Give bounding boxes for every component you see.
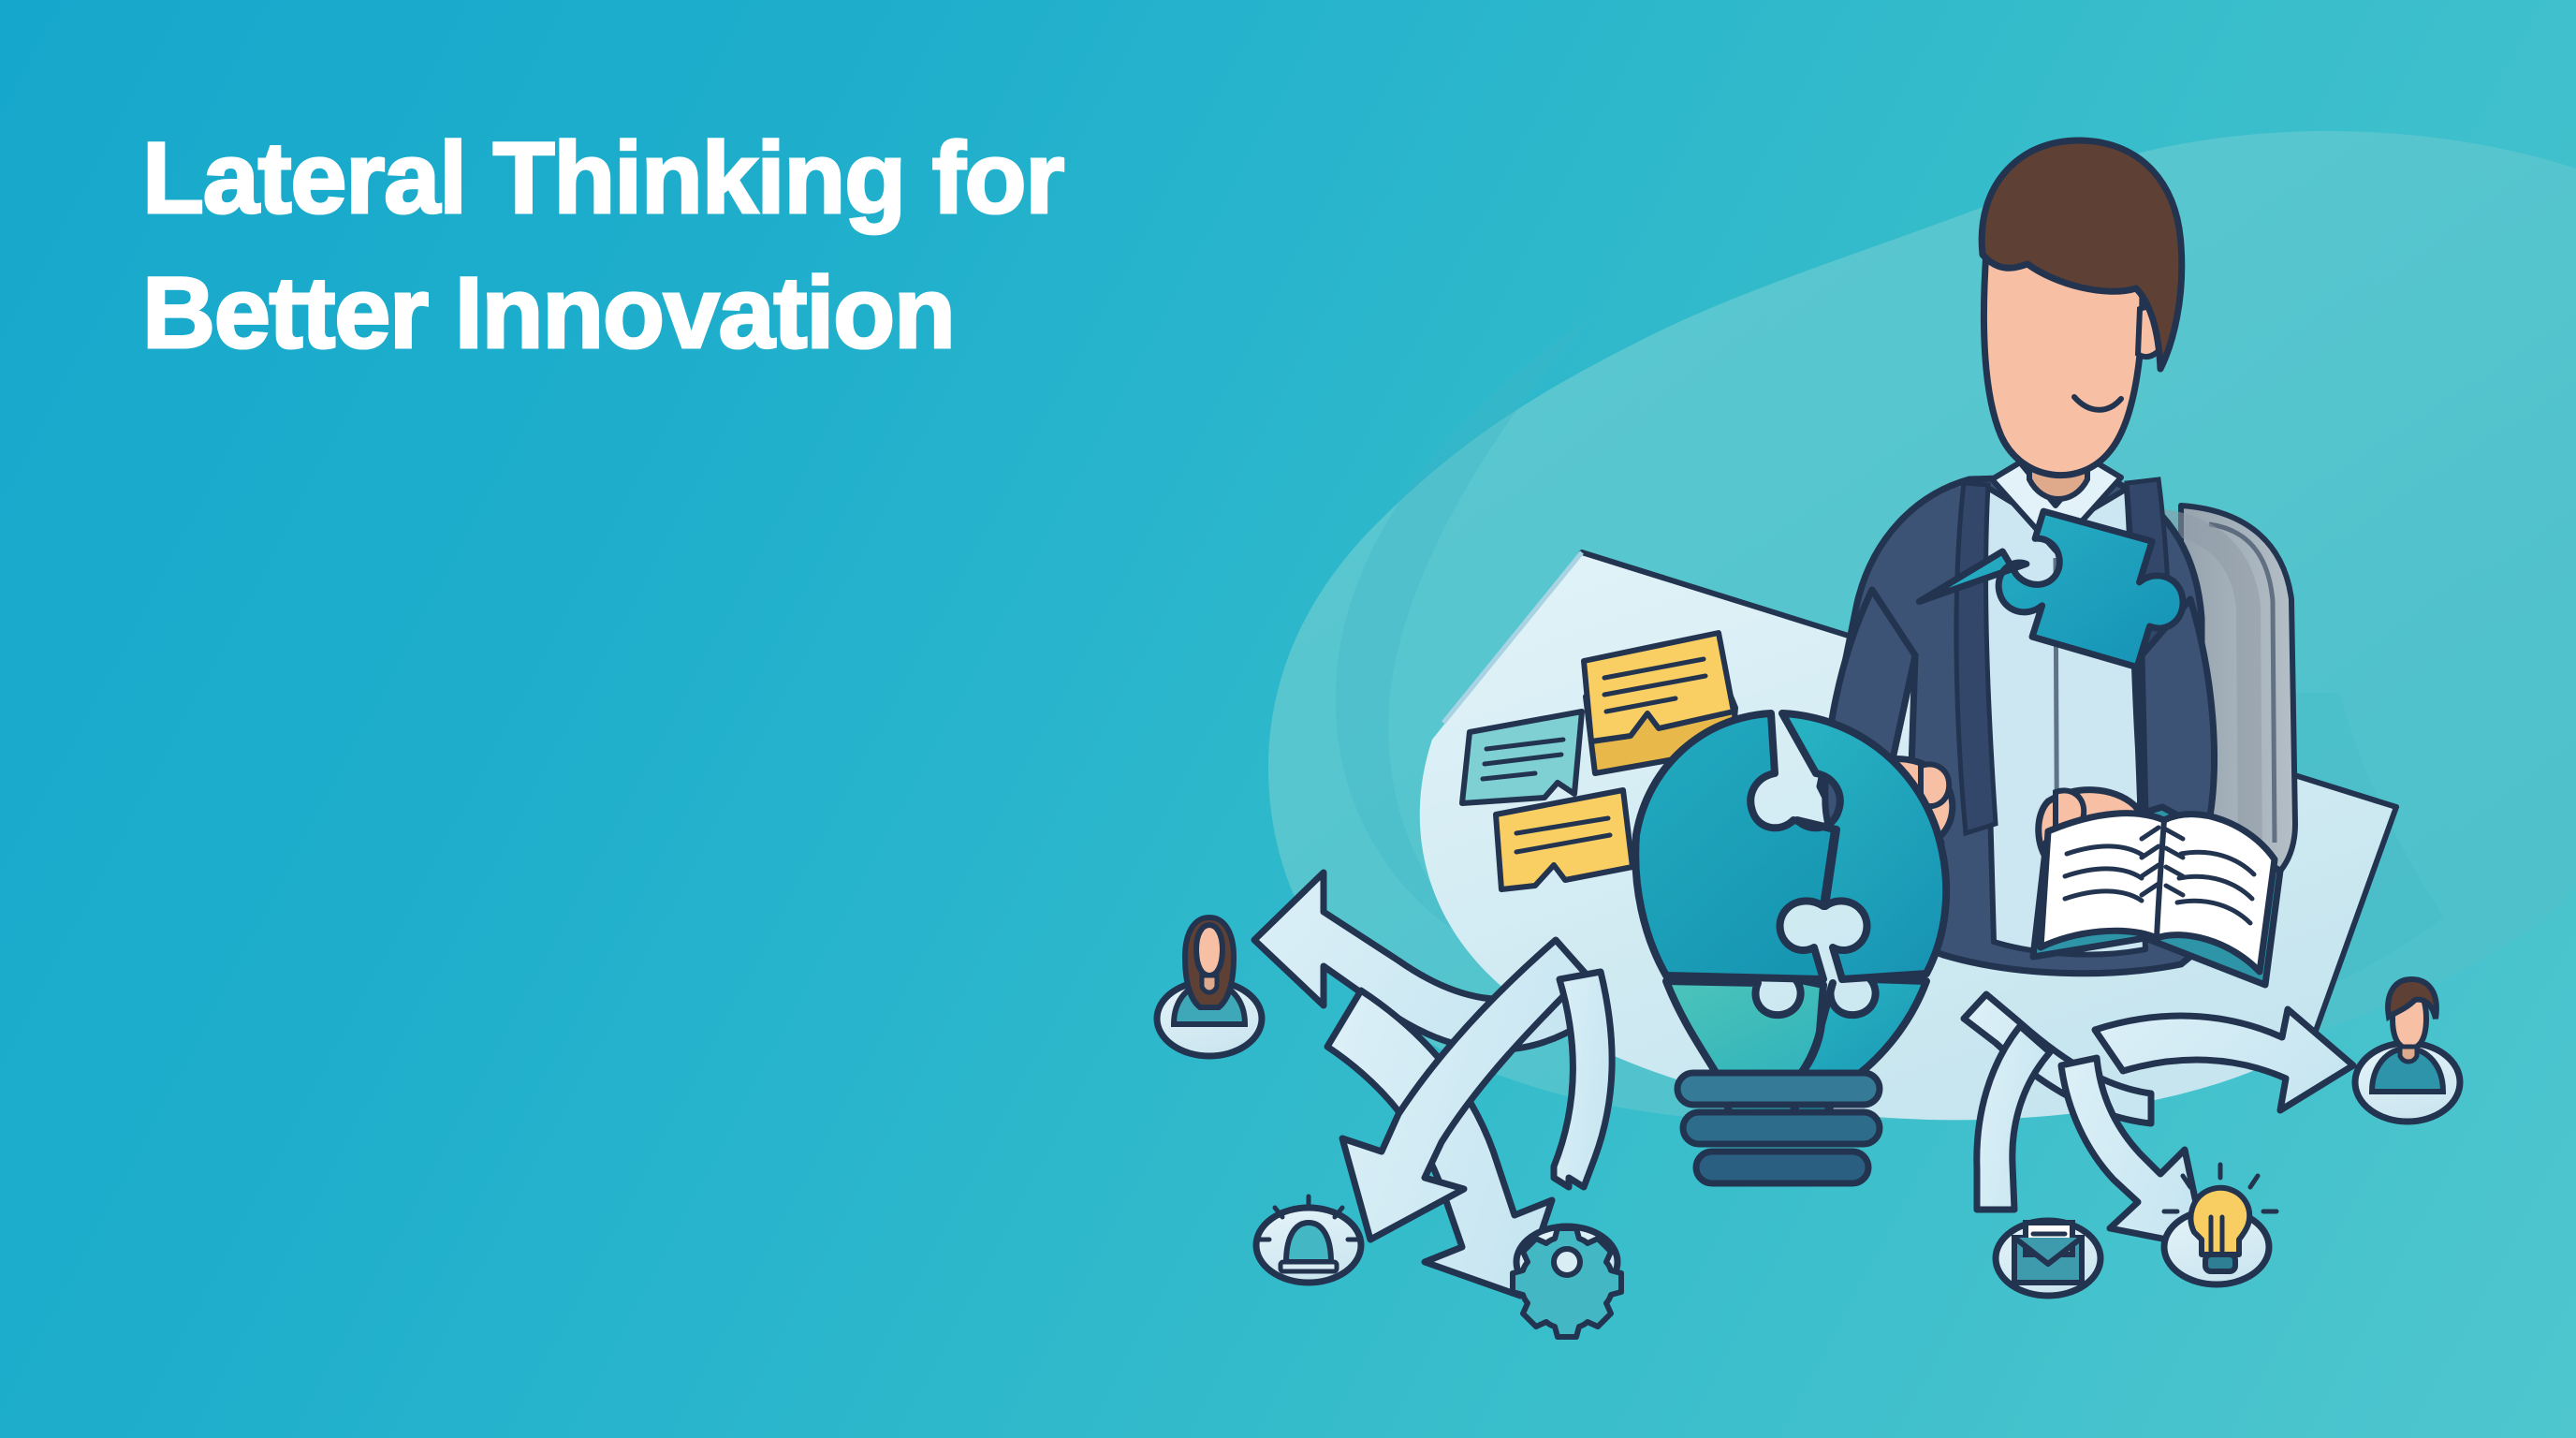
gear-icon: [1513, 1226, 1621, 1337]
banner-root: Lateral Thinking for Better Innovation: [0, 0, 2576, 1438]
bulb-base: [1677, 1073, 1880, 1183]
right-cluster-arrows: [1964, 994, 2353, 1247]
siren-icon: [1256, 1196, 1361, 1283]
headline-line-1: Lateral Thinking for: [142, 127, 1546, 228]
headline-line-2: Better Innovation: [142, 262, 1546, 363]
page-title: Lateral Thinking for Better Innovation: [142, 127, 1546, 363]
envelope-icon: [1996, 1221, 2100, 1296]
avatar-female-icon: [1157, 917, 1262, 1056]
